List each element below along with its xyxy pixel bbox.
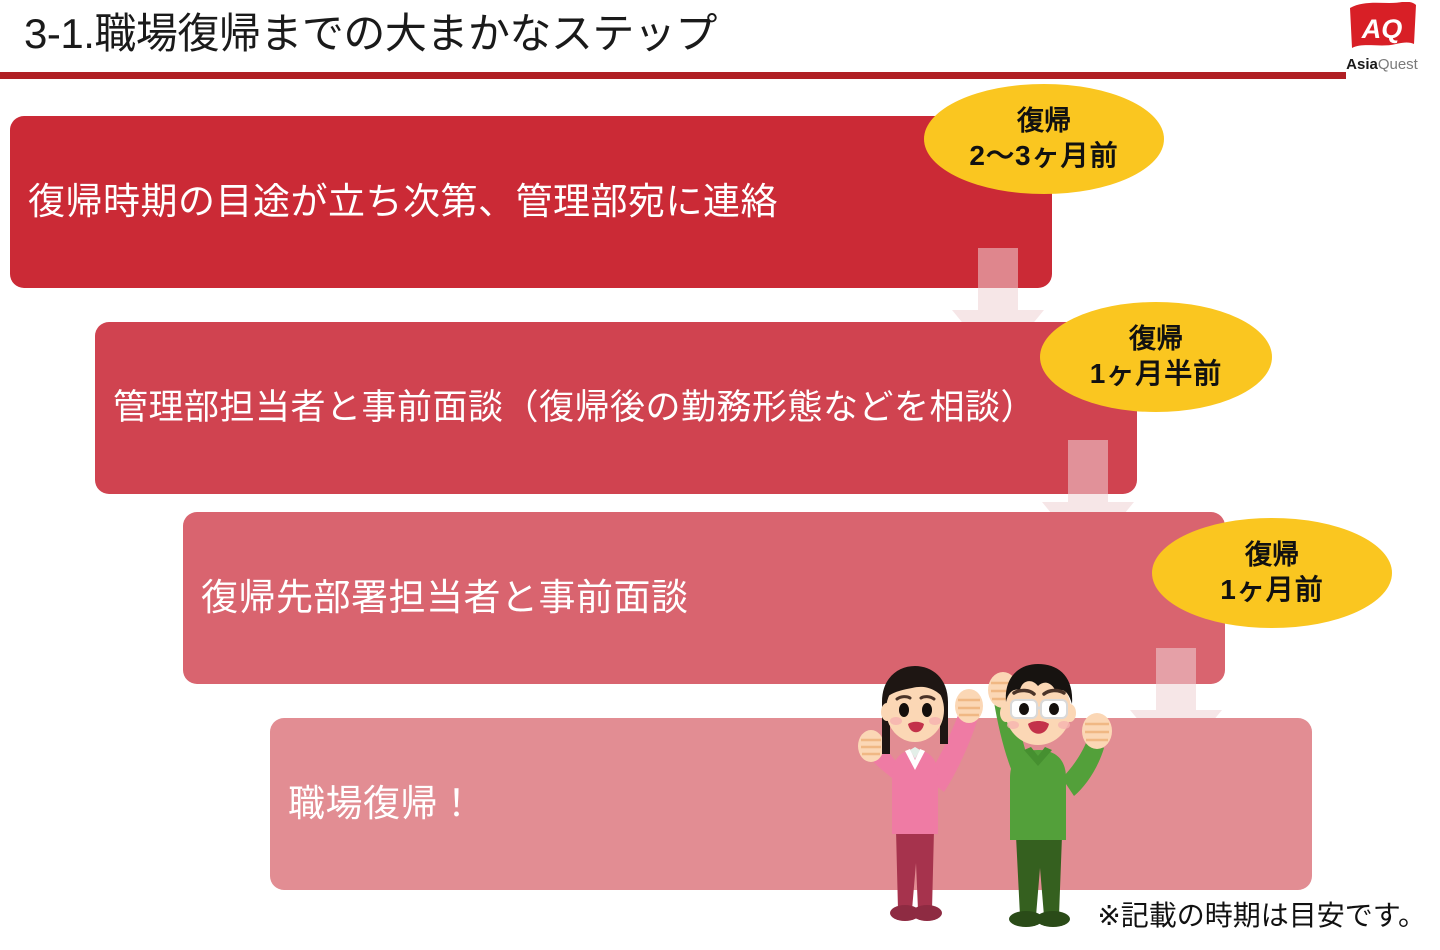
- step-bar-3-label: 復帰先部署担当者と事前面談: [183, 572, 707, 624]
- timing-badge-1: 復帰 2〜3ヶ月前: [924, 84, 1164, 194]
- timing-badge-3-line2: 1ヶ月前: [1220, 572, 1324, 608]
- timing-badge-3-line1: 復帰: [1245, 539, 1299, 572]
- step-bar-1-label: 復帰時期の目途が立ち次第、管理部宛に連絡: [10, 176, 796, 228]
- timing-badge-3: 復帰 1ヶ月前: [1152, 518, 1392, 628]
- logo-wordmark-bold: Asia: [1346, 56, 1378, 73]
- slide-canvas: 3-1.職場復帰までの大まかなステップ AQ AsiaQuest 復帰時期の目途…: [0, 0, 1440, 950]
- man-fist-right: [1082, 713, 1112, 749]
- woman-figure: [858, 666, 983, 921]
- asiaquest-logo: AQ AsiaQuest: [1332, 2, 1432, 76]
- step-bar-1[interactable]: 復帰時期の目途が立ち次第、管理部宛に連絡: [10, 116, 1052, 288]
- step-bar-4-label: 職場復帰！: [270, 778, 494, 830]
- timing-badge-2-line2: 1ヶ月半前: [1090, 356, 1223, 392]
- timing-badge-2-line1: 復帰: [1129, 323, 1183, 356]
- logo-wordmark-light: Quest: [1378, 56, 1418, 73]
- man-figure: [988, 664, 1112, 927]
- woman-fist-up: [955, 689, 983, 723]
- timing-badge-2: 復帰 1ヶ月半前: [1040, 302, 1272, 412]
- step-bar-2[interactable]: 管理部担当者と事前面談（復帰後の勤務形態などを相談）: [95, 322, 1137, 494]
- flag-icon: AQ: [1348, 2, 1418, 56]
- page-title: 3-1.職場復帰までの大まかなステップ: [24, 6, 717, 62]
- logo-mark-text: AQ: [1361, 14, 1403, 44]
- logo-wordmark: AsiaQuest: [1332, 56, 1432, 73]
- woman-fist-down: [858, 730, 884, 762]
- timing-badge-1-line2: 2〜3ヶ月前: [969, 138, 1118, 174]
- title-divider-rule: [0, 72, 1346, 79]
- step-bar-4[interactable]: 職場復帰！: [270, 718, 1312, 890]
- step-bar-2-label: 管理部担当者と事前面談（復帰後の勤務形態などを相談）: [95, 377, 1054, 439]
- footnote-text: ※記載の時期は目安です。: [1097, 898, 1426, 934]
- timing-badge-1-line1: 復帰: [1017, 105, 1071, 138]
